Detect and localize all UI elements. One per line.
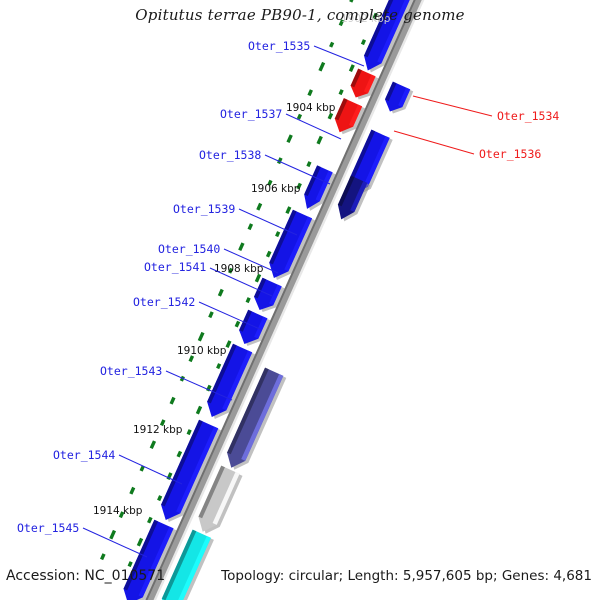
gc-marker [331,42,333,47]
gc-marker [210,312,212,317]
gc-marker [111,531,115,539]
gc-marker [350,65,353,71]
gc-marker [318,136,321,143]
gc-marker [178,451,180,456]
gc-marker [258,204,261,210]
gc-marker [159,496,161,501]
leader-line [394,131,474,154]
gc-marker [151,441,154,448]
gene-label-oter_1540[interactable]: Oter_1540 [158,242,220,256]
gc-marker [218,364,220,369]
page-title: Opitutus terrae PB90-1, complete genome [0,6,600,24]
genome-stats-text: Topology: circular; Length: 5,957,605 bp… [221,568,592,584]
tick-label: 1904 kbp [286,102,336,114]
gc-marker [149,517,151,522]
tick-label: 1914 kbp [93,505,143,517]
gc-marker [219,290,222,296]
gc-marker [288,135,291,142]
gene-label-oter_1545[interactable]: Oter_1545 [17,521,79,535]
gene-label-oter_1536[interactable]: Oter_1536 [479,147,541,161]
gc-marker [199,333,203,341]
gc-marker [362,40,364,45]
gc-marker [138,538,141,545]
gc-marker [298,114,300,119]
gc-marker [267,251,269,256]
gc-marker [329,113,331,118]
gene-label-oter_1534[interactable]: Oter_1534 [497,109,559,123]
gc-marker [240,243,243,250]
gc-marker [131,488,134,494]
gene-label-oter_1535[interactable]: Oter_1535 [248,39,310,53]
gc-marker [256,274,259,281]
gc-marker [247,298,249,303]
genome-map-canvas[interactable]: 1902 kbp1904 kbp1906 kbp1908 kbp1910 kbp… [0,0,600,600]
tick-label: 1906 kbp [251,183,301,195]
genome-map-view: 1902 kbp1904 kbp1906 kbp1908 kbp1910 kbp… [0,0,600,600]
gene-label-oter_1543[interactable]: Oter_1543 [100,364,162,378]
tick-label: 1912 kbp [133,424,183,436]
leader-line [413,96,492,116]
gene-label-oter_1544[interactable]: Oter_1544 [53,448,115,462]
gc-marker [309,90,311,95]
gc-marker [197,406,200,413]
tick-label: 1910 kbp [177,345,227,357]
gene-label-oter_1541[interactable]: Oter_1541 [144,260,206,274]
gc-marker [141,466,143,471]
gene-label-oter_1538[interactable]: Oter_1538 [199,148,261,162]
accession-text: Accession: NC_010571 [6,568,165,584]
gc-marker [188,430,190,435]
gene-label-oter_1542[interactable]: Oter_1542 [133,295,195,309]
leader-line [286,114,341,139]
gc-marker [102,554,104,559]
gene-label-oter_1539[interactable]: Oter_1539 [173,202,235,216]
gc-marker [129,562,131,567]
gc-marker [340,90,342,95]
gene-arrow[interactable] [385,82,413,114]
gc-marker [249,224,251,229]
gc-marker [320,63,324,71]
gc-marker [227,341,230,347]
gc-marker [308,162,310,167]
gc-marker [236,321,238,326]
gene-label-oter_1537[interactable]: Oter_1537 [220,107,282,121]
gc-marker [287,207,290,213]
gc-marker [351,0,354,2]
leader-line [314,46,364,66]
gc-marker [171,398,174,404]
leader-line [119,455,182,484]
gc-marker [277,232,279,237]
gc-marker-track-inner [129,13,376,566]
